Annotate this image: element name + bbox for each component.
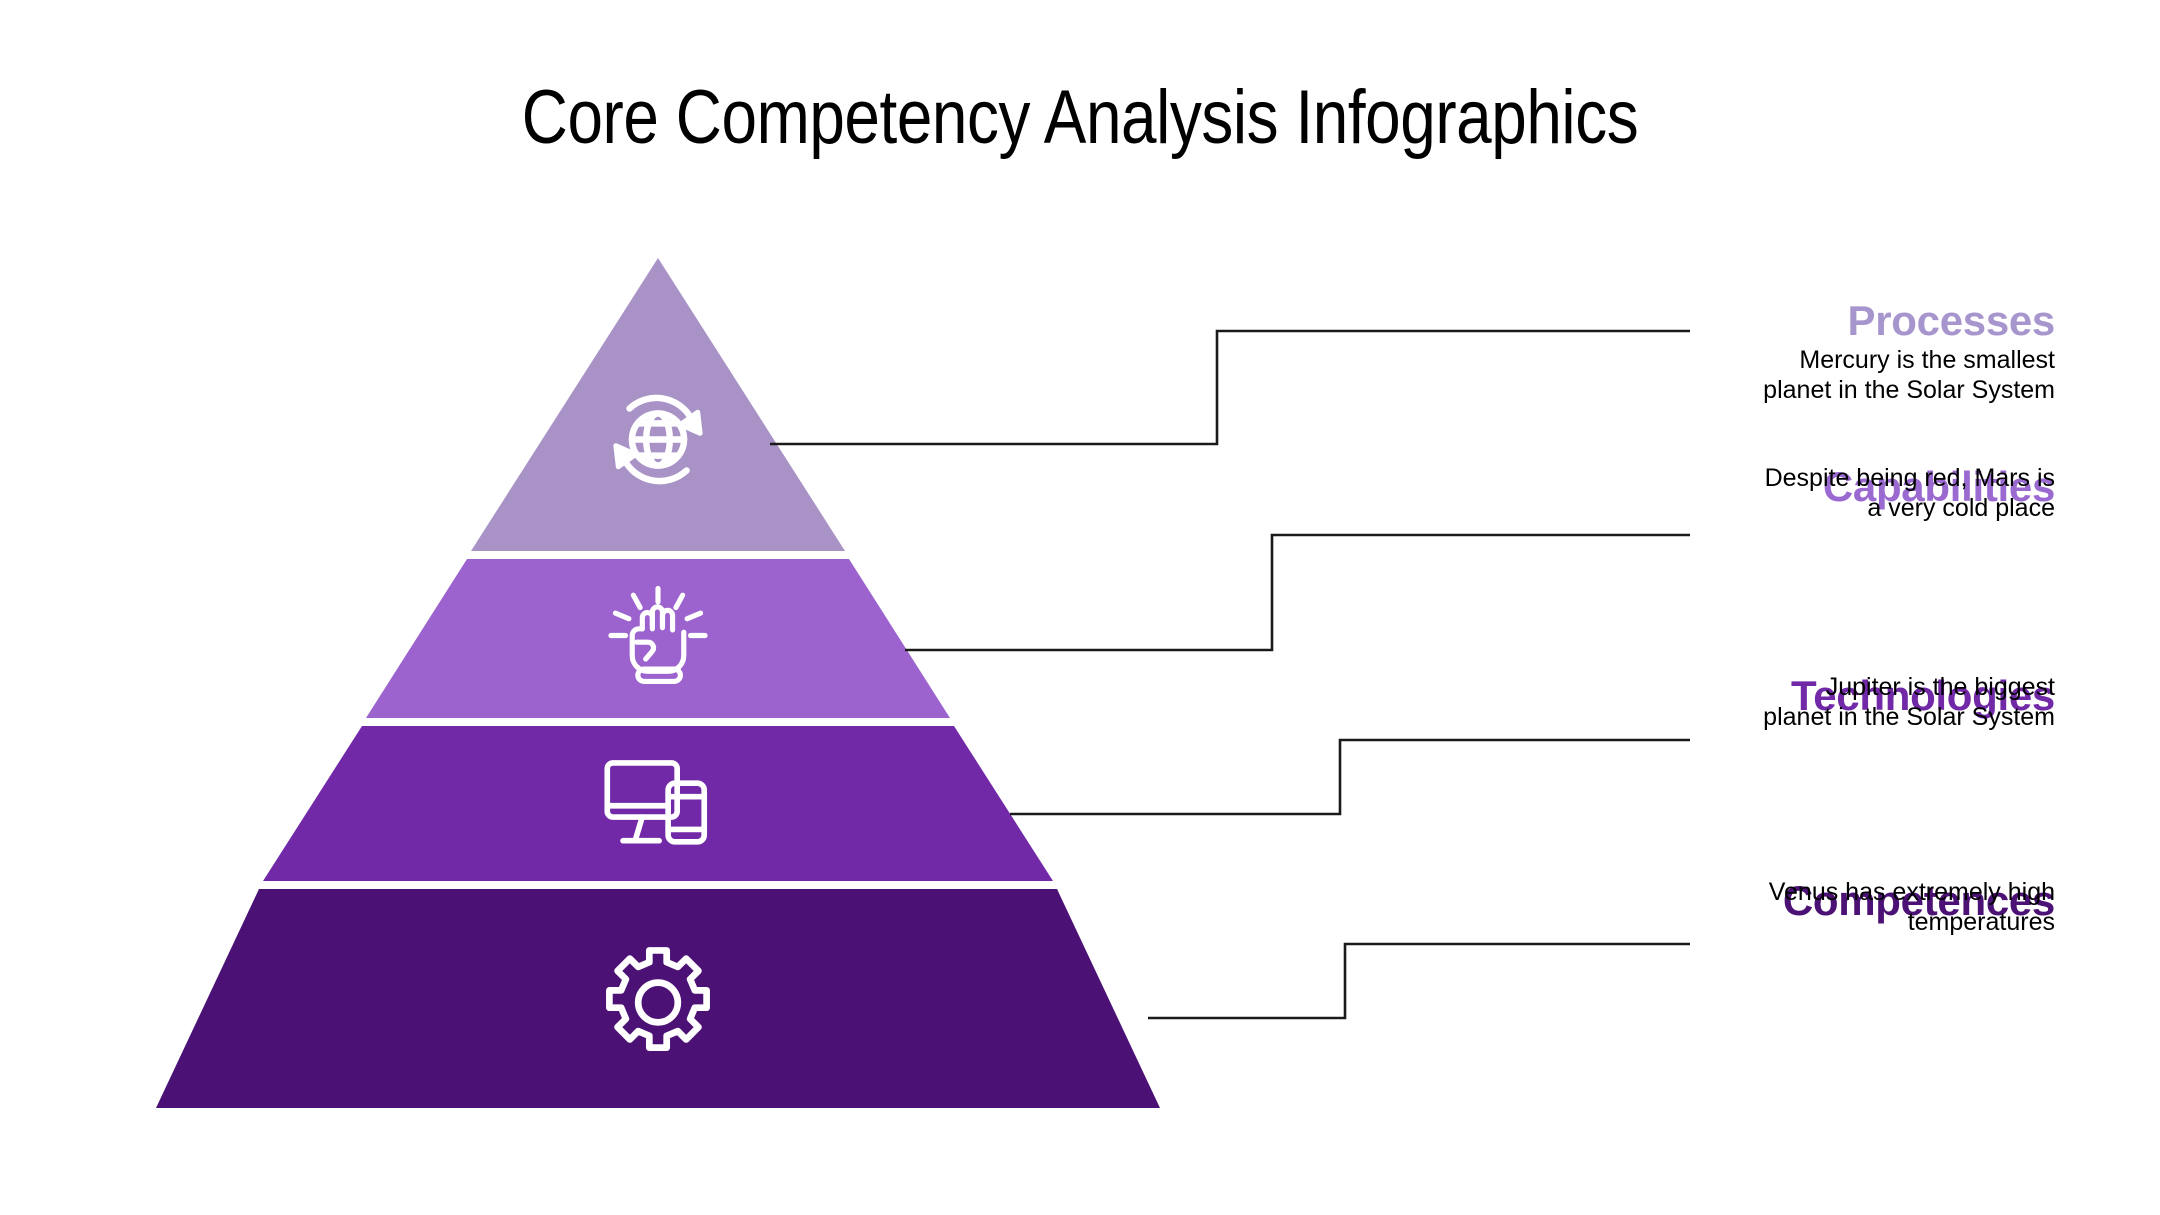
label-block-technologies: Technologies Jupiter is the biggest plan…: [1755, 675, 2055, 732]
label-body-capabilities: Despite being red, Mars is a very cold p…: [1755, 464, 2055, 523]
connector-competences: [1148, 944, 1690, 1018]
slide-canvas: Core Competency Analysis Infographics: [0, 0, 2160, 1215]
connector-capabilities: [905, 535, 1690, 650]
label-block-capabilities: Capabilities Despite being red, Mars is …: [1755, 466, 2055, 523]
connector-technologies: [1010, 740, 1690, 814]
label-body-processes: Mercury is the smallest planet in the So…: [1755, 346, 2055, 405]
label-heading-processes: Processes: [1755, 300, 2055, 342]
label-block-competences: Competences Venus has extremely high tem…: [1755, 880, 2055, 937]
label-block-processes: Processes Mercury is the smallest planet…: [1755, 300, 2055, 405]
connector-lines: [0, 0, 2160, 1215]
connector-processes: [770, 331, 1690, 444]
label-body-technologies: Jupiter is the biggest planet in the Sol…: [1755, 673, 2055, 732]
label-body-competences: Venus has extremely high temperatures: [1755, 878, 2055, 937]
